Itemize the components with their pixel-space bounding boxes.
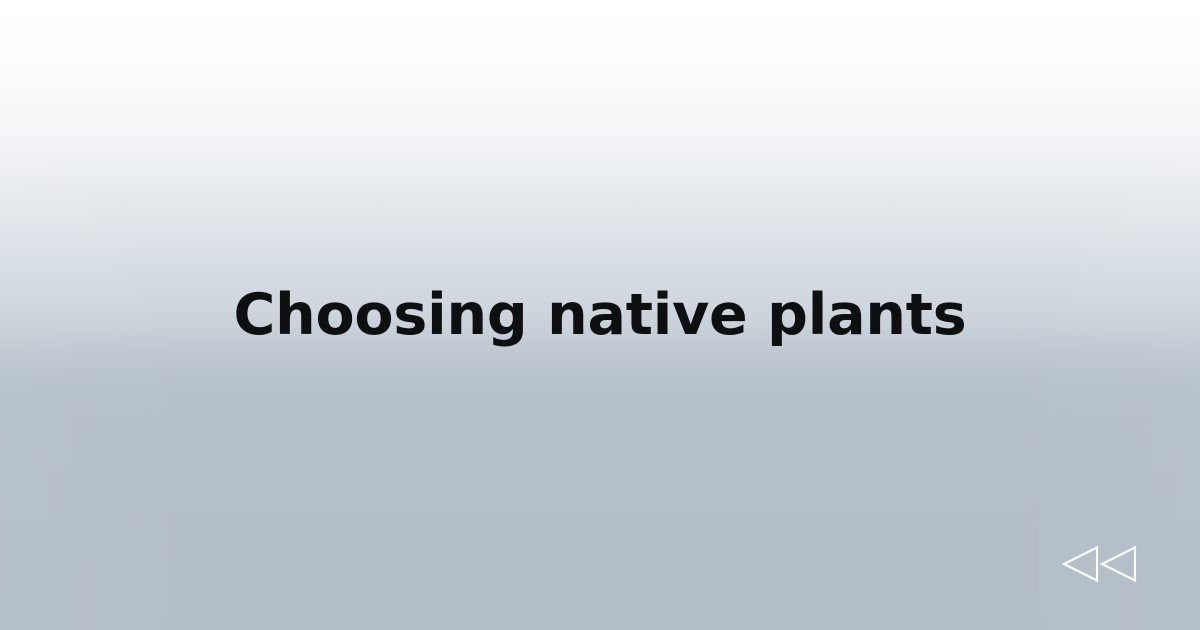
triangle-left-second bbox=[1102, 548, 1135, 581]
triangle-left-first bbox=[1064, 548, 1097, 581]
rewind-button[interactable] bbox=[1054, 543, 1138, 585]
page-title: Choosing native plants bbox=[173, 284, 1026, 347]
rewind-icon[interactable] bbox=[1062, 546, 1138, 582]
title-container: Choosing native plants bbox=[0, 0, 1200, 630]
title-card: Choosing native plants bbox=[0, 0, 1200, 630]
